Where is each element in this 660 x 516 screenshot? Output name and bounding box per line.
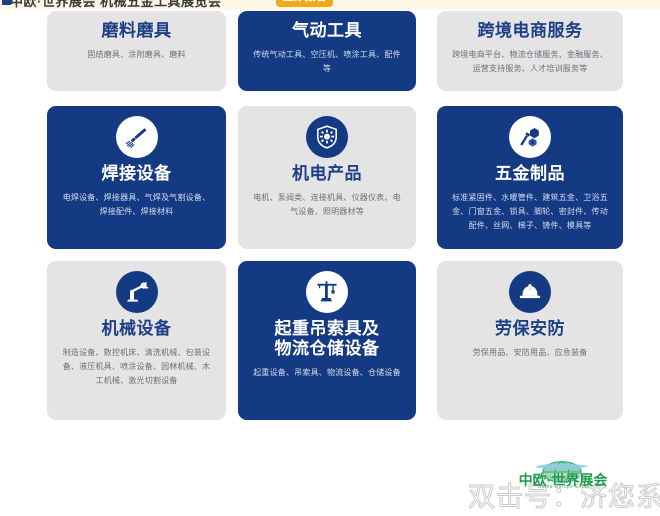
- category-card-grid: 磨料磨具 固结磨具、涂附磨具、磨料 气动工具 传统气动工具、空压机、喷涂工具、配…: [47, 11, 623, 448]
- card-title: 气动工具: [292, 21, 362, 41]
- category-card-hardware-products[interactable]: 五金制品 标准紧固件、水暖管件、建筑五金、卫浴五金、门窗五金、锁具、脚轮、密封件…: [437, 106, 623, 249]
- header-title: 中欧·世界展会 机械五金工具展览会: [10, 0, 221, 9]
- card-title: 磨料磨具: [102, 21, 172, 41]
- card-title: 焊接设备: [102, 164, 172, 184]
- signup-button[interactable]: 立即报名: [276, 0, 333, 7]
- card-description: 标准紧固件、水暖管件、建筑五金、卫浴五金、门窗五金、锁具、脚轮、密封件、传动配件…: [449, 191, 611, 233]
- card-title: 五金制品: [495, 164, 565, 184]
- category-card-lifting-logistics[interactable]: 起重吊索具及物流仓储设备 起重设备、吊索具、物流设备、仓储设备: [238, 261, 416, 420]
- grid-cell: 气动工具 传统气动工具、空压机、喷涂工具、配件等: [234, 11, 427, 106]
- card-title: 起重吊索具及物流仓储设备: [275, 319, 380, 359]
- card-description: 起重设备、吊索具、物流设备、仓储设备: [253, 366, 401, 380]
- tower-crane-icon: [306, 271, 348, 313]
- card-description: 传统气动工具、空压机、喷涂工具、配件等: [250, 48, 404, 76]
- category-card-abrasives[interactable]: 磨料磨具 固结磨具、涂附磨具、磨料: [47, 11, 226, 91]
- category-card-safety-protection[interactable]: 劳保安防 劳保用品、安防用品、应急装备: [437, 261, 623, 420]
- grid-cell: 磨料磨具 固结磨具、涂附磨具、磨料: [47, 11, 234, 106]
- category-card-electromechanical[interactable]: 机电产品 电机、泵阀类、连接机具、仪器仪表、电气设备、照明器材等: [238, 106, 416, 249]
- category-card-pneumatic-tools[interactable]: 气动工具 传统气动工具、空压机、喷涂工具、配件等: [238, 11, 416, 91]
- card-description: 固结磨具、涂附磨具、磨料: [87, 48, 185, 62]
- card-title: 跨境电商服务: [478, 21, 583, 41]
- grid-cell: 跨境电商服务 跨境电商平台、物流仓储服务、金融服务、运营支持服务、人才培训服务等: [427, 11, 623, 106]
- grid-cell: 机电产品 电机、泵阀类、连接机具、仪器仪表、电气设备、照明器材等: [234, 106, 427, 261]
- card-description: 制造设备、数控机床、清洗机械、包装设备、液压机具、喷涂设备、园林机械、木工机械、…: [59, 346, 214, 388]
- category-card-machinery-equipment[interactable]: 机械设备 制造设备、数控机床、清洗机械、包装设备、液压机具、喷涂设备、园林机械、…: [47, 261, 226, 420]
- card-title: 机电产品: [292, 164, 362, 184]
- grid-cell: 起重吊索具及物流仓储设备 起重设备、吊索具、物流设备、仓储设备: [234, 261, 427, 420]
- safety-helmet-icon: [509, 271, 551, 313]
- page-header-strip: 中欧·世界展会 机械五金工具展览会 立即报名: [0, 0, 660, 9]
- grid-cell: 五金制品 标准紧固件、水暖管件、建筑五金、卫浴五金、门窗五金、锁具、脚轮、密封件…: [427, 106, 623, 261]
- signup-button-label: 立即报名: [276, 0, 333, 7]
- bolt-nut-icon: [509, 116, 551, 158]
- category-card-welding-equipment[interactable]: 焊接设备 电焊设备、焊接器具、气焊及气割设备、焊接配件、焊接材料: [47, 106, 226, 249]
- card-title: 劳保安防: [495, 319, 565, 339]
- card-description: 劳保用品、安防用品、应急装备: [473, 346, 588, 360]
- card-title: 机械设备: [102, 319, 172, 339]
- category-card-cross-border-ecommerce[interactable]: 跨境电商服务 跨境电商平台、物流仓储服务、金融服务、运营支持服务、人才培训服务等: [437, 11, 623, 91]
- card-description: 跨境电商平台、物流仓储服务、金融服务、运营支持服务、人才培训服务等: [449, 48, 611, 76]
- robot-arm-icon: [116, 271, 158, 313]
- welding-torch-icon: [116, 116, 158, 158]
- watermark-text: 双击号：济您系的它: [468, 479, 660, 516]
- grid-cell: 劳保安防 劳保用品、安防用品、应急装备: [427, 261, 623, 420]
- grid-cell: 焊接设备 电焊设备、焊接器具、气焊及气割设备、焊接配件、焊接材料: [47, 106, 234, 261]
- card-description: 电机、泵阀类、连接机具、仪器仪表、电气设备、照明器材等: [250, 191, 404, 219]
- card-description: 电焊设备、焊接器具、气焊及气割设备、焊接配件、焊接材料: [59, 191, 214, 219]
- grid-cell: 机械设备 制造设备、数控机床、清洗机械、包装设备、液压机具、喷涂设备、园林机械、…: [47, 261, 234, 420]
- gear-shield-icon: [306, 116, 348, 158]
